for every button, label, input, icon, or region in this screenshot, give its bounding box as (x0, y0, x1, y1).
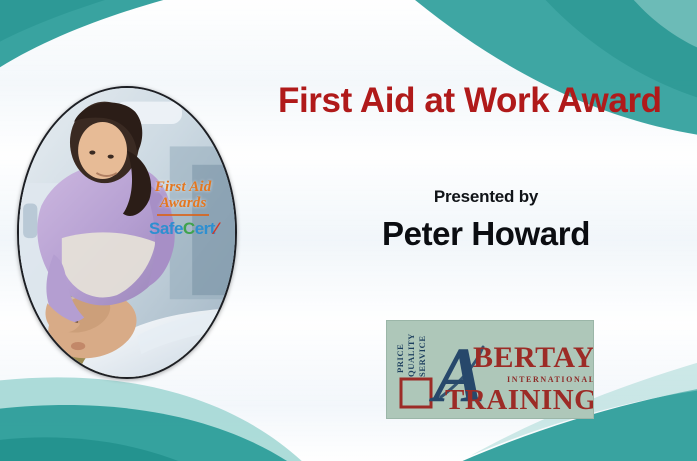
swoosh-top-right-light (612, 0, 697, 60)
swoosh-bottom-left-dark (0, 437, 236, 461)
swoosh-bottom-left-pale (0, 377, 330, 461)
recipient-name: Peter Howard (278, 216, 694, 252)
presented-by-label: Presented by (278, 187, 694, 207)
logo-strapline-service: SERVICE (417, 335, 427, 377)
swoosh-top-left-soft (0, 0, 210, 66)
swoosh-bottom-left-mid (0, 405, 326, 461)
logo-word-training: TRAINING (445, 384, 593, 416)
logo-strapline-quality: QUALITY (406, 333, 416, 377)
first-aid-photo: First Aid Awards SafeCert⁄ (17, 86, 237, 379)
logo-word-international: INTERNATIONAL (507, 375, 593, 384)
certificate-slide: First Aid Awards SafeCert⁄ First Aid at … (0, 0, 697, 461)
swoosh-top-left (0, 0, 300, 96)
logo-word-bertay: BERTAY (473, 341, 593, 374)
abertay-training-logo: PRICE QUALITY SERVICE A BERTAY INTERNATI… (386, 320, 594, 419)
award-title: First Aid at Work Award (278, 83, 694, 120)
logo-strapline-price: PRICE (395, 344, 405, 373)
first-aid-photo-image (17, 86, 237, 379)
